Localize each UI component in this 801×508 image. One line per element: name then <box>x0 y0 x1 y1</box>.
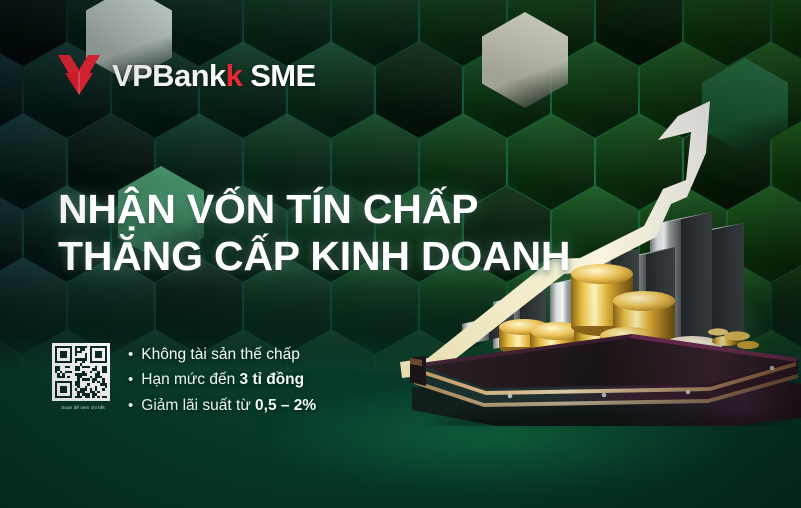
hexagon-tile <box>0 258 66 354</box>
benefit-list: • Không tài sản thế chấp • Hạn mức đến 3… <box>128 342 316 418</box>
list-item: • Hạn mức đến 3 tỉ đồng <box>128 367 316 392</box>
bullet-dot-icon: • <box>128 368 133 392</box>
list-item: • Giảm lãi suất từ 0,5 – 2% <box>128 393 316 418</box>
vpbank-sme-promo-banner: VPBankk SME NHẬN VỐN TÍN CHẤP THĂNG CẤP … <box>0 0 801 508</box>
brand-name-part2: SME <box>242 58 315 93</box>
brand-name: VPBankk SME <box>112 60 316 91</box>
headline-line-1: NHẬN VỐN TÍN CHẤP <box>58 188 570 232</box>
list-item: • Không tài sản thế chấp <box>128 342 316 367</box>
headline-line-2: THĂNG CẤP KINH DOANH <box>58 235 570 279</box>
qr-code-icon[interactable] <box>52 343 110 401</box>
qr-cell <box>105 396 107 398</box>
bullet-dot-icon: • <box>128 394 133 418</box>
page-title: NHẬN VỐN TÍN CHẤP THĂNG CẤP KINH DOANH <box>58 188 570 279</box>
qr-code-block[interactable]: Soạn để xem chi tiết <box>52 343 114 410</box>
list-item-label: Không tài sản thế chấp <box>141 342 300 367</box>
bullet-dot-icon: • <box>128 343 133 367</box>
brand-name-k-accent: k <box>226 58 243 93</box>
qr-caption: Soạn để xem chi tiết <box>52 405 114 410</box>
vpbank-chevron-logo-icon <box>56 53 102 97</box>
list-item-label: Hạn mức đến 3 tỉ đồng <box>141 367 304 392</box>
brand-name-part1: VPBank <box>112 58 226 93</box>
brand-logo: VPBankk SME <box>56 53 316 97</box>
list-item-label: Giảm lãi suất từ 0,5 – 2% <box>141 393 316 418</box>
